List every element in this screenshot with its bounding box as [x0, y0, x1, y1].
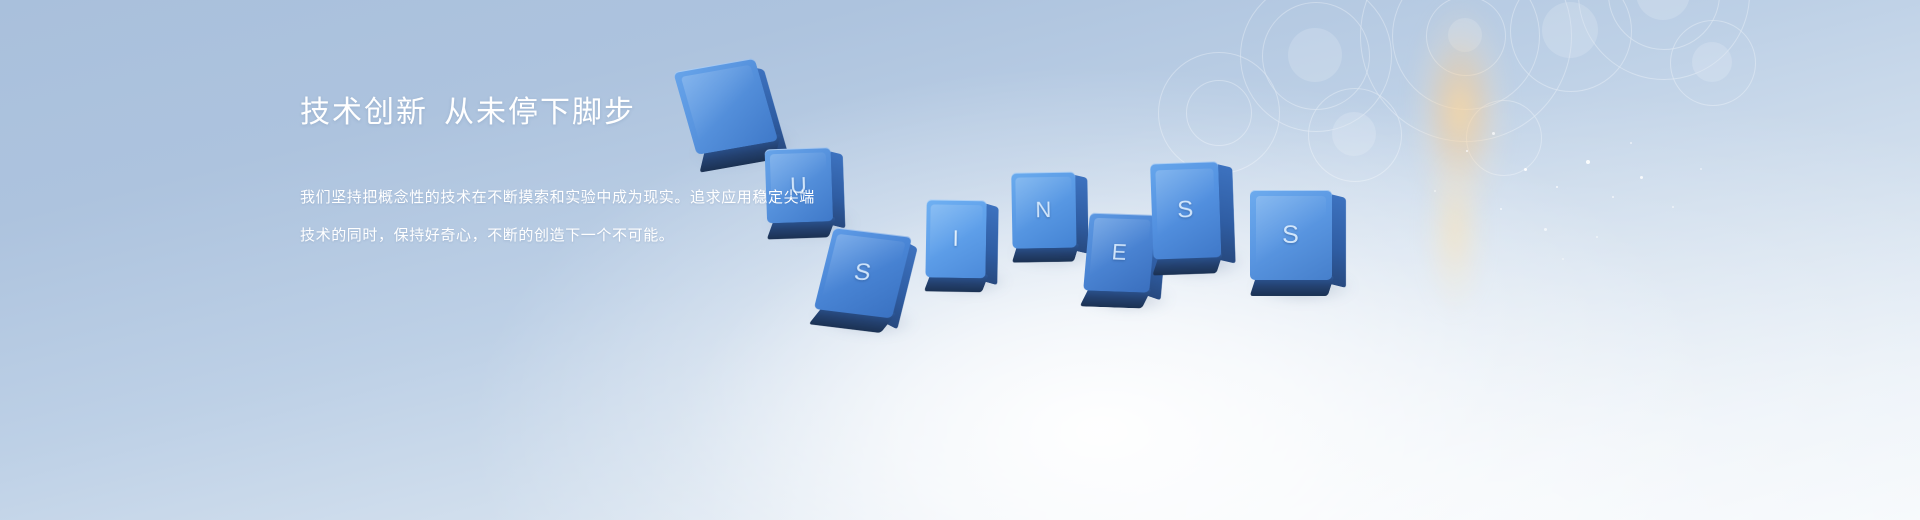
hero-description-line-1: 我们坚持把概念性的技术在不断摸索和实验中成为现实。追求应用稳定尖端	[300, 190, 900, 205]
page-title: 技术创新从未停下脚步	[300, 95, 900, 131]
keycap-i: I	[925, 199, 1005, 288]
keycap-n: N	[1011, 171, 1095, 260]
keycap-s-3-label: S	[1250, 190, 1332, 280]
keycap-i-label: I	[925, 199, 986, 278]
keycap-s-2: S	[1150, 160, 1242, 273]
keycap-e-label: E	[1083, 213, 1156, 293]
keycap-s-3: S	[1250, 190, 1352, 294]
keycap-n-label: N	[1011, 172, 1076, 249]
warm-glow-plume	[1330, 0, 1590, 260]
hero-description-line-2: 技术的同时，保持好奇心，不断的创造下一个不可能。	[300, 228, 900, 243]
warm-glow-plume-lower	[1380, 120, 1530, 340]
hero-copy: 技术创新从未停下脚步 我们坚持把概念性的技术在不断摸索和实验中成为现实。追求应用…	[300, 95, 900, 243]
hero-banner: U S I N	[0, 0, 1920, 520]
headline-part-2: 从未停下脚步	[444, 96, 636, 129]
keycap-s-1: S	[810, 227, 934, 336]
headline-part-1: 技术创新	[300, 96, 428, 129]
keycap-s-2-label: S	[1150, 161, 1221, 259]
